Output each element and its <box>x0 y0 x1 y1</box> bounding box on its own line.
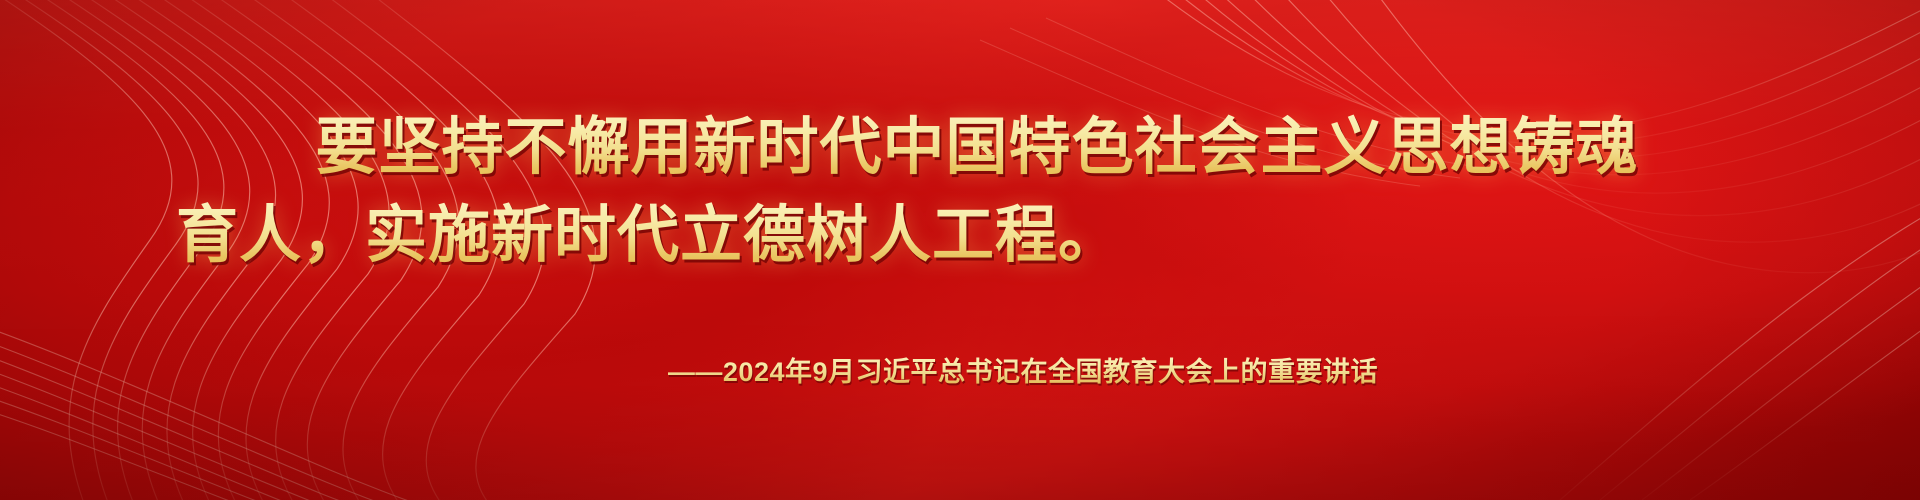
headline-line-2: 育人，实施新时代立德树人工程。 <box>0 192 1920 280</box>
quote-attribution: ——2024年9月习近平总书记在全国教育大会上的重要讲话 <box>668 352 1378 392</box>
headline-line-1: 要坚持不懈用新时代中国特色社会主义思想铸魂 <box>0 104 1920 192</box>
propaganda-banner: 要坚持不懈用新时代中国特色社会主义思想铸魂 育人，实施新时代立德树人工程。 ——… <box>0 0 1920 500</box>
banner-content: 要坚持不懈用新时代中国特色社会主义思想铸魂 育人，实施新时代立德树人工程。 ——… <box>0 0 1920 500</box>
headline-block: 要坚持不懈用新时代中国特色社会主义思想铸魂 育人，实施新时代立德树人工程。 <box>0 104 1920 280</box>
